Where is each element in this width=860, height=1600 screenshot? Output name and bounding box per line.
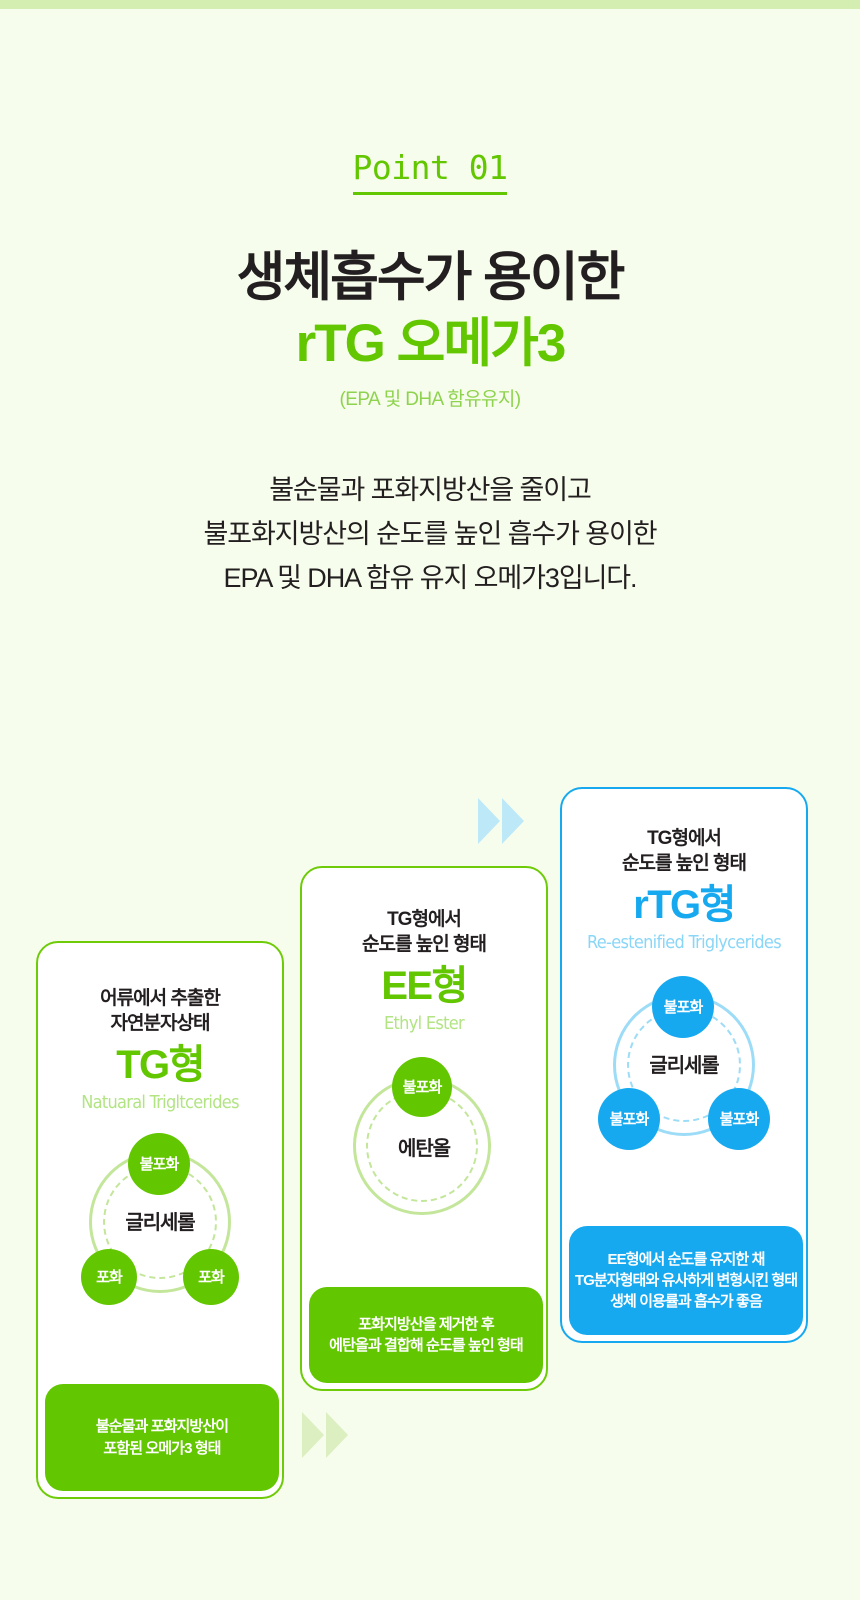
card-tg-band-line2: 포함된 오메가3 형태 — [103, 1438, 220, 1459]
card-ee-molecule: 에탄올 불포화 — [339, 1063, 509, 1243]
card-rtg-eyebrow-line2: 순도를 높인 형태 — [562, 851, 806, 876]
arrow-tg-to-ee — [302, 1412, 348, 1458]
chevron-right-icon — [478, 798, 500, 844]
body-copy-line3: EPA 및 DHA 함유 유지 오메가3입니다. — [0, 557, 860, 601]
top-accent-strip — [0, 0, 860, 9]
card-tg-node-top: 불포화 — [128, 1133, 190, 1195]
card-rtg-node-bottom-left: 불포화 — [598, 1088, 660, 1150]
card-rtg-node-bottom-right: 불포화 — [708, 1088, 770, 1150]
card-rtg-head: TG형에서 순도를 높인 형태 rTG형 Re-estenified Trigl… — [562, 789, 806, 953]
card-tg-node-bottom-right: 포화 — [183, 1249, 239, 1305]
card-tg-type: TG형 — [38, 1043, 282, 1088]
page-title-line2: rTG 오메가3 — [0, 313, 860, 374]
card-ee-band-line1: 포화지방산을 제거한 후 — [358, 1314, 494, 1335]
card-ee-eyebrow-line2: 순도를 높인 형태 — [302, 932, 546, 957]
card-rtg-band-line2: TG분자형태와 유사하게 변형시킨 형태 — [575, 1270, 797, 1291]
card-rtg-molecule-center: 글리세롤 — [594, 1056, 774, 1076]
card-tg-eyebrow-line2: 자연분자상태 — [38, 1011, 282, 1036]
card-rtg-latin: Re-estenified Triglycerides — [562, 932, 806, 954]
body-copy-line2: 불포화지방산의 순도를 높인 흡수가 용이한 — [0, 513, 860, 557]
body-copy-line1: 불순물과 포화지방산을 줄이고 — [0, 469, 860, 513]
card-tg-band: 불순물과 포화지방산이 포함된 오메가3 형태 — [45, 1384, 279, 1491]
card-rtg-eyebrow-line1: TG형에서 — [562, 826, 806, 851]
card-ee-band: 포화지방산을 제거한 후 에탄올과 결합해 순도를 높인 형태 — [309, 1287, 543, 1383]
card-ee-node-top: 불포화 — [392, 1057, 452, 1117]
card-rtg-molecule: 글리세롤 불포화 불포화 불포화 — [594, 984, 774, 1164]
arrow-ee-to-rtg — [478, 798, 524, 844]
card-tg-band-line1: 불순물과 포화지방산이 — [96, 1416, 228, 1437]
chevron-right-icon — [502, 798, 524, 844]
card-ee-head: TG형에서 순도를 높인 형태 EE형 Ethyl Ester — [302, 868, 546, 1034]
card-rtg-node-top: 불포화 — [652, 976, 714, 1038]
card-ee[interactable]: TG형에서 순도를 높인 형태 EE형 Ethyl Ester 에탄올 불포화 … — [300, 866, 548, 1391]
card-rtg-band: EE형에서 순도를 유지한 채 TG분자형태와 유사하게 변형시킨 형태 생체 … — [569, 1226, 803, 1335]
chevron-right-icon — [302, 1412, 324, 1458]
card-rtg-band-line1: EE형에서 순도를 유지한 채 — [607, 1249, 764, 1270]
page-title-note: (EPA 및 DHA 함유유지) — [0, 384, 860, 411]
card-tg-head: 어류에서 추출한 자연분자상태 TG형 Natuaral Trigltcerid… — [38, 943, 282, 1113]
card-rtg[interactable]: TG형에서 순도를 높인 형태 rTG형 Re-estenified Trigl… — [560, 787, 808, 1343]
card-tg-node-bottom-left: 포화 — [81, 1249, 137, 1305]
card-rtg-type: rTG형 — [562, 883, 806, 928]
header-section: Point 01 생체흡수가 용이한 rTG 오메가3 (EPA 및 DHA 함… — [0, 150, 860, 600]
card-ee-latin: Ethyl Ester — [302, 1013, 546, 1035]
page-title-line1: 생체흡수가 용이한 — [0, 247, 860, 308]
card-ee-band-line2: 에탄올과 결합해 순도를 높인 형태 — [329, 1335, 523, 1356]
card-ee-eyebrow-line1: TG형에서 — [302, 907, 546, 932]
card-tg-molecule: 글리세롤 불포화 포화 포화 — [75, 1141, 245, 1321]
point-label: Point 01 — [353, 150, 508, 195]
card-tg-latin: Natuaral Trigltcerides — [38, 1092, 282, 1114]
card-ee-molecule-center: 에탄올 — [339, 1139, 509, 1159]
card-tg[interactable]: 어류에서 추출한 자연분자상태 TG형 Natuaral Trigltcerid… — [36, 941, 284, 1499]
card-tg-molecule-center: 글리세롤 — [75, 1213, 245, 1233]
card-rtg-band-line3: 생체 이용률과 흡수가 좋음 — [610, 1291, 762, 1312]
body-copy: 불순물과 포화지방산을 줄이고 불포화지방산의 순도를 높인 흡수가 용이한 E… — [0, 469, 860, 600]
card-ee-type: EE형 — [302, 964, 546, 1009]
chevron-right-icon — [326, 1412, 348, 1458]
card-tg-eyebrow-line1: 어류에서 추출한 — [38, 986, 282, 1011]
